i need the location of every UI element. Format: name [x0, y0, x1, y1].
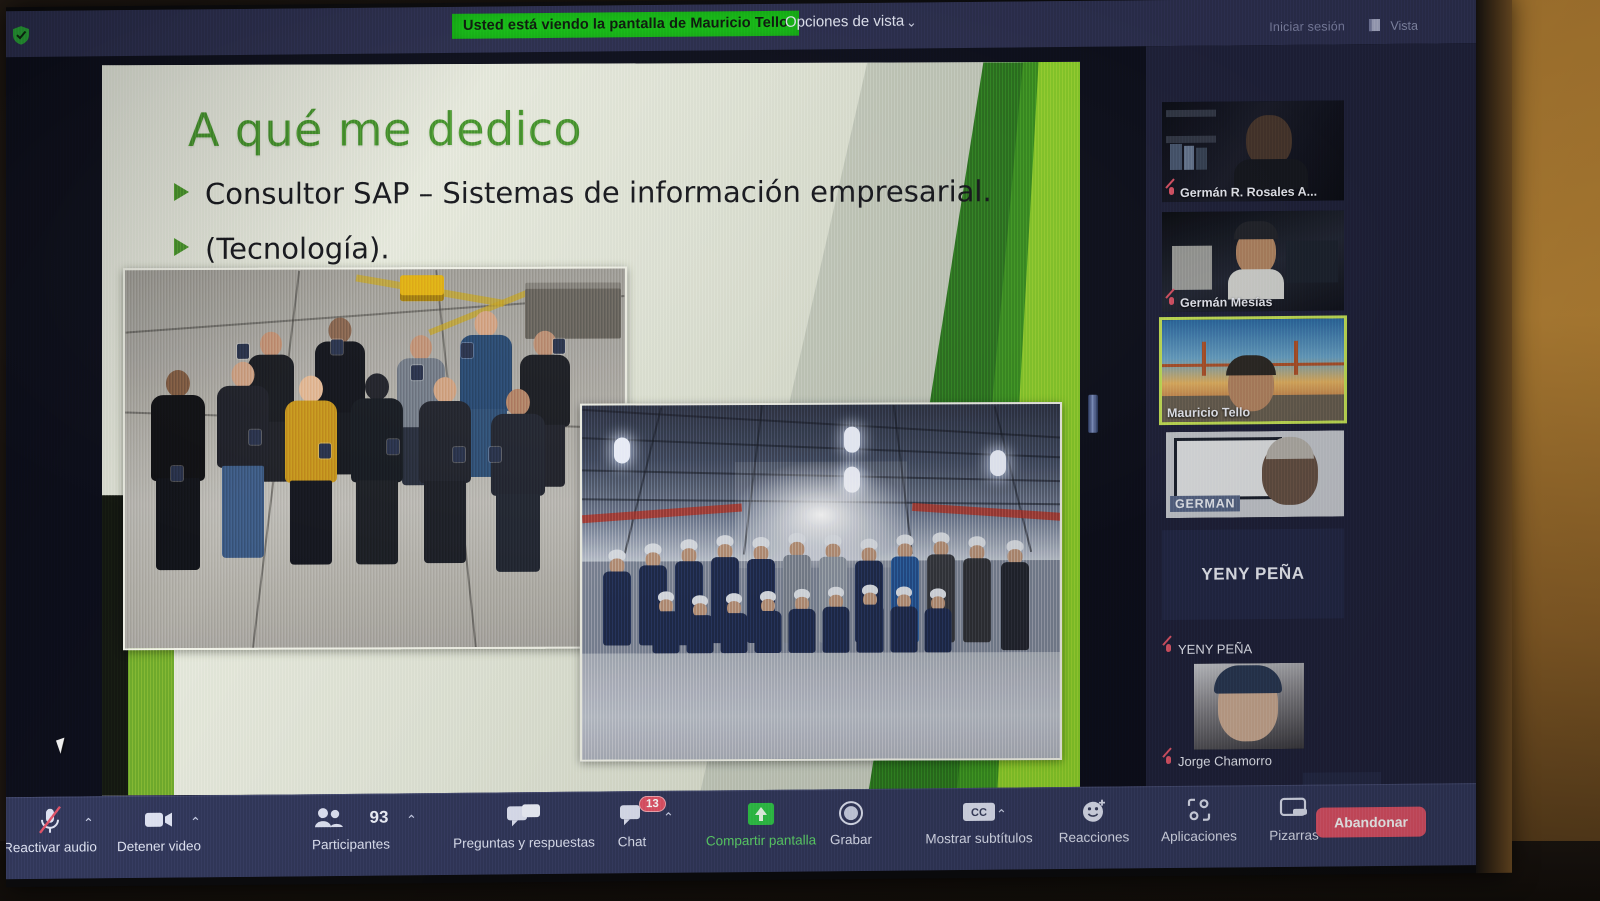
photo-worker	[1000, 540, 1030, 650]
photo-worker	[822, 587, 850, 653]
monitor-screen: Usted está viendo la pantalla de Maurici…	[6, 0, 1508, 887]
participant-name-1: Germán Mesías	[1167, 295, 1272, 310]
toolbar-label-participants: Participantes	[312, 837, 390, 853]
photo-worker	[788, 589, 816, 653]
toolbar-item-mute[interactable]: Reactivar audio	[6, 803, 110, 855]
participant-tile-2[interactable]: Mauricio Tello	[1162, 318, 1344, 422]
photo-worker	[856, 585, 884, 653]
toolbar-label-whiteboards: Pizarras	[1269, 828, 1319, 843]
toolbar-label-captions: Mostrar subtítulos	[925, 830, 1032, 846]
slide-photo-team	[123, 266, 627, 650]
slide-title: A qué me dedico	[188, 102, 582, 157]
toolbar-label-reactions: Reacciones	[1059, 829, 1130, 845]
captions-caret-icon[interactable]: ⌃	[996, 807, 1007, 823]
svg-text:CC: CC	[971, 807, 987, 819]
participant-tile-1[interactable]: Germán Mesías	[1162, 210, 1344, 312]
reactions-icon[interactable]	[1081, 794, 1107, 828]
photo-worker	[652, 591, 680, 653]
mic-muted-icon	[1167, 297, 1176, 309]
toolbar-item-record[interactable]: Grabar	[791, 796, 911, 848]
mute-options-caret-icon[interactable]: ⌃	[83, 815, 94, 831]
slide-photo-plant	[580, 402, 1062, 762]
photo-worker	[602, 549, 632, 645]
bullet-triangle-icon	[174, 183, 189, 201]
encryption-shield-icon[interactable]	[12, 25, 30, 45]
toolbar-item-chat[interactable]: 13 Chat	[572, 798, 692, 850]
mic-muted-icon	[1164, 644, 1173, 656]
participant-tile-5[interactable]	[1194, 663, 1304, 750]
leave-meeting-button[interactable]: Abandonar	[1316, 807, 1426, 838]
meeting-toolbar: Reactivar audio ⌃ Detener video ⌃	[6, 783, 1476, 879]
photo-person	[487, 389, 549, 569]
participants-filmstrip: Germán R. Rosales A... Germán Mesías	[1146, 43, 1476, 786]
cc-icon[interactable]: CC	[962, 795, 996, 829]
participant-tile-3[interactable]: GERMAN	[1166, 430, 1344, 518]
slide-bullet-2: (Tecnología).	[174, 231, 390, 266]
toolbar-item-participants[interactable]: 93 Participantes	[291, 800, 411, 852]
chat-icon[interactable]: 13	[619, 798, 645, 832]
plant-floor	[582, 652, 1060, 760]
participants-icon[interactable]: 93	[314, 801, 389, 836]
screen-share-banner: Usted está viendo la pantalla de Maurici…	[452, 11, 799, 39]
chevron-down-icon[interactable]: ⌄	[906, 14, 917, 30]
toolbar-label-video: Detener video	[117, 838, 201, 854]
share-screen-icon[interactable]	[746, 797, 776, 831]
photo-person	[415, 377, 475, 563]
participant-name-0: Germán R. Rosales A...	[1167, 185, 1317, 200]
participants-count: 93	[370, 808, 389, 828]
photo-of-monitor: Usted está viendo la pantalla de Maurici…	[0, 0, 1600, 901]
bullet-triangle-icon	[174, 238, 189, 256]
photo-worker	[962, 536, 992, 642]
participant-name-4-row: YENY PEÑA	[1164, 641, 1252, 657]
warehouse-agv	[400, 275, 444, 301]
chat-unread-badge: 13	[639, 796, 666, 812]
monitor-bezel	[1476, 0, 1512, 873]
photo-person	[347, 373, 407, 563]
slide-bullet-1: Consultor SAP – Sistemas de información …	[174, 174, 992, 211]
participant-tile-4[interactable]: YENY PEÑA	[1162, 528, 1344, 620]
participant-avatar-name: YENY PEÑA	[1162, 563, 1344, 585]
photo-person	[147, 370, 209, 570]
zoom-meeting-window: Usted está viendo la pantalla de Maurici…	[6, 0, 1476, 879]
photo-worker	[686, 595, 714, 653]
chat-caret-icon[interactable]: ⌃	[663, 810, 674, 826]
toolbar-label-record: Grabar	[830, 832, 872, 847]
participant-name-5-row: Jorge Chamorro	[1164, 753, 1272, 769]
qa-icon[interactable]	[507, 799, 541, 833]
slide-bullet-2-text: (Tecnología).	[205, 231, 390, 266]
presentation-slide: A qué me dedico Consultor SAP – Sistemas…	[102, 62, 1080, 795]
login-label[interactable]: Iniciar sesión	[1269, 19, 1345, 34]
participant-tile-0[interactable]: Germán R. Rosales A...	[1162, 100, 1344, 202]
view-layout-icon[interactable]	[1369, 19, 1380, 31]
toolbar-label-mute: Reactivar audio	[6, 839, 97, 855]
panel-collapse-handle[interactable]	[1088, 395, 1098, 433]
participants-caret-icon[interactable]: ⌃	[406, 812, 417, 828]
participant-name-4: YENY PEÑA	[1178, 641, 1252, 657]
video-options-caret-icon[interactable]: ⌃	[190, 814, 201, 830]
photo-person	[213, 362, 273, 558]
view-options-label[interactable]: Opciones de vista	[785, 13, 904, 31]
toolbar-label-chat: Chat	[618, 834, 647, 849]
view-label[interactable]: Vista	[1390, 19, 1418, 33]
camera-icon[interactable]	[144, 803, 174, 837]
mic-muted-icon	[1164, 756, 1173, 768]
photo-worker	[924, 588, 952, 652]
microphone-muted-icon[interactable]	[37, 804, 63, 838]
slide-bullet-1-text: Consultor SAP – Sistemas de información …	[205, 174, 992, 211]
whiteboard-icon[interactable]	[1279, 792, 1309, 826]
participant-name-overlay-3: GERMAN	[1170, 495, 1240, 512]
photo-person	[281, 375, 341, 563]
record-icon[interactable]	[838, 796, 864, 830]
toolbar-item-video[interactable]: Detener video	[99, 802, 219, 854]
photo-worker	[720, 593, 748, 653]
apps-icon[interactable]	[1186, 793, 1212, 827]
photo-worker	[754, 591, 782, 653]
mic-muted-icon	[1167, 187, 1176, 199]
photo-worker	[890, 586, 918, 652]
participant-name-5: Jorge Chamorro	[1178, 753, 1272, 769]
participant-name-2: Mauricio Tello	[1167, 405, 1250, 420]
